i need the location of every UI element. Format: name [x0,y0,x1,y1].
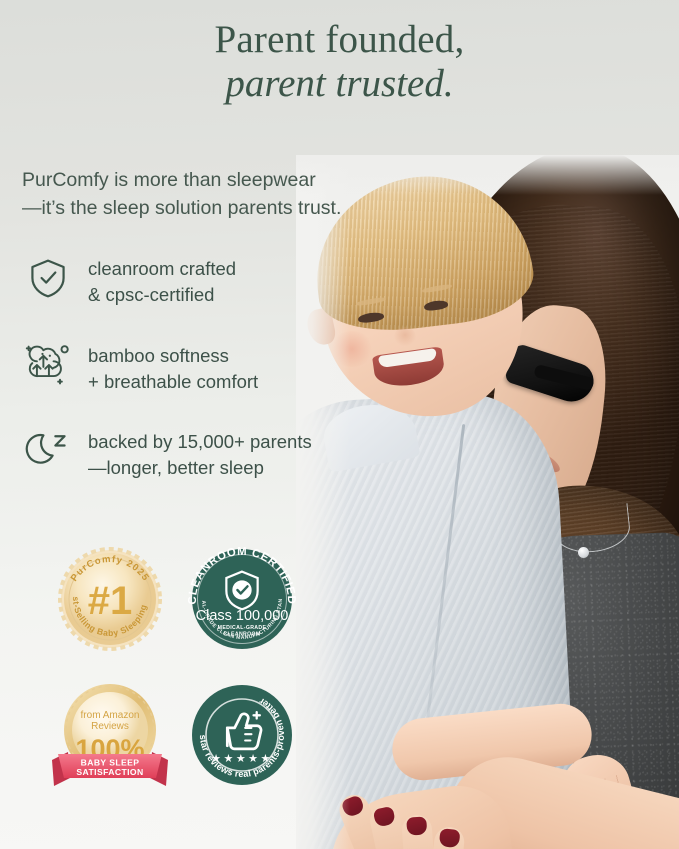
feature-line-2: —longer, better sleep [88,455,312,481]
reviews-star-rating: ★★★★★ [211,753,273,765]
feature-text-bamboo: bamboo softness + breathable comfort [88,339,258,396]
cleanroom-sub-line-1: MEDICAL-GRADE [218,625,267,631]
feature-line-2: & cpsc-certified [88,282,236,308]
feature-item-bamboo: bamboo softness + breathable comfort [22,339,312,396]
hero-photo [296,155,679,849]
feature-line-1: cleanroom crafted [88,256,236,282]
cleanroom-class: Class 100,000 [196,608,289,624]
satisfaction-source-line-2: Reviews [91,721,129,732]
child-nose [394,327,416,347]
feature-item-cleanroom: cleanroom crafted & cpsc-certified [22,252,312,309]
feature-line-1: backed by 15,000+ parents [88,429,312,455]
feature-list: cleanroom crafted & cpsc-certified [22,252,312,512]
best-seller-rank: #1 [88,579,133,623]
shield-check-icon [22,252,74,304]
cleanroom-certified-badge: CLEANROOM CERTIFIED MEDICAL-GRADE CLEAN … [180,538,304,660]
subheading-line-1: PurComfy is more than sleepwear [22,166,382,194]
moon-sleep-icon [22,425,74,477]
feature-line-2: + breathable comfort [88,369,258,395]
amazon-satisfaction-badge: from Amazon Reviews 100% BABY SLEEP SATI… [48,674,172,796]
reviews-proven-badge: 15,000+ 5 star reviews real parents-prov… [180,674,304,796]
marketing-hero-image: Parent founded, parent trusted. PurComfy… [0,0,679,849]
page-title: Parent founded, parent trusted. [0,18,679,107]
feature-text-cleanroom: cleanroom crafted & cpsc-certified [88,252,236,309]
subheading-line-2: —it’s the sleep solution parents trust. [22,194,382,222]
best-seller-badge: PurComfy 2025 Best-Selling Baby Sleeping… [48,538,172,660]
breathable-cloud-icon [22,339,74,391]
necklace-pendant [578,547,589,558]
subheading: PurComfy is more than sleepwear —it’s th… [22,166,382,223]
cleanroom-sub-line-2: CLEANROOM [223,632,260,638]
satisfaction-source-line-1: from Amazon [81,710,140,721]
feature-item-sleep: backed by 15,000+ parents —longer, bette… [22,425,312,482]
feature-text-sleep: backed by 15,000+ parents —longer, bette… [88,425,312,482]
feature-line-1: bamboo softness [88,343,258,369]
satisfaction-ribbon-line-2: SATISFACTION [76,767,143,777]
headline-line-2: parent trusted. [0,62,679,106]
satisfaction-ribbon-line-1: BABY SLEEP [81,758,140,768]
headline-line-1: Parent founded, [0,18,679,62]
trust-badges: PurComfy 2025 Best-Selling Baby Sleeping… [48,538,310,796]
